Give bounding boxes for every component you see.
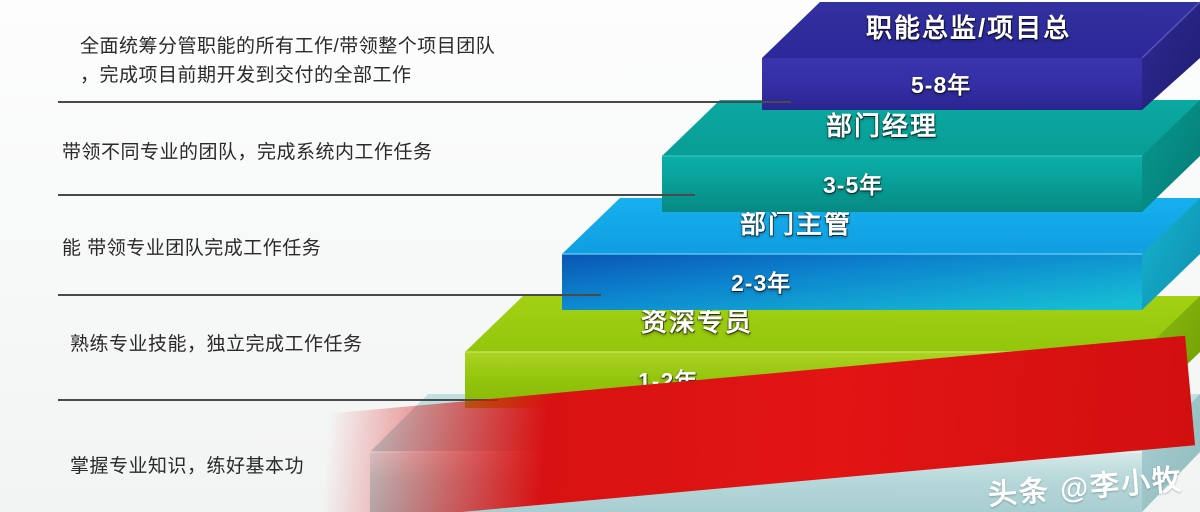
description-level-2: 熟练专业技能，独立完成工作任务 bbox=[70, 330, 590, 359]
divider-rule-1 bbox=[58, 101, 791, 103]
step-years-4: 3-5年 bbox=[823, 166, 883, 200]
description-level-3: 能 带领专业团队完成工作任务 bbox=[62, 234, 622, 263]
step-title-5: 职能总监/项目总 bbox=[866, 8, 1071, 45]
step-title-4: 部门经理 bbox=[826, 106, 938, 143]
step-years-5: 5-8年 bbox=[911, 66, 971, 100]
step-level-4[interactable]: 部门经理 3-5年 bbox=[662, 100, 1200, 212]
description-level-4: 带领不同专业的团队，完成系统内工作任务 bbox=[62, 138, 662, 167]
career-ladder-diagram: 管培生 0-1年 bbox=[0, 0, 1200, 512]
divider-rule-4 bbox=[58, 399, 498, 401]
step-level-5[interactable]: 职能总监/项目总 5-8年 bbox=[762, 2, 1200, 110]
step-shape-3 bbox=[562, 198, 1200, 310]
description-level-5: 全面统筹分管职能的所有工作/带领整个项目团队 ，完成项目前期开发到交付的全部工作 bbox=[80, 32, 700, 91]
step-years-3: 2-3年 bbox=[731, 264, 791, 298]
step-level-3[interactable]: 部门主管 2-3年 bbox=[562, 198, 1200, 310]
divider-rule-3 bbox=[58, 294, 601, 296]
divider-rule-2 bbox=[58, 194, 695, 196]
